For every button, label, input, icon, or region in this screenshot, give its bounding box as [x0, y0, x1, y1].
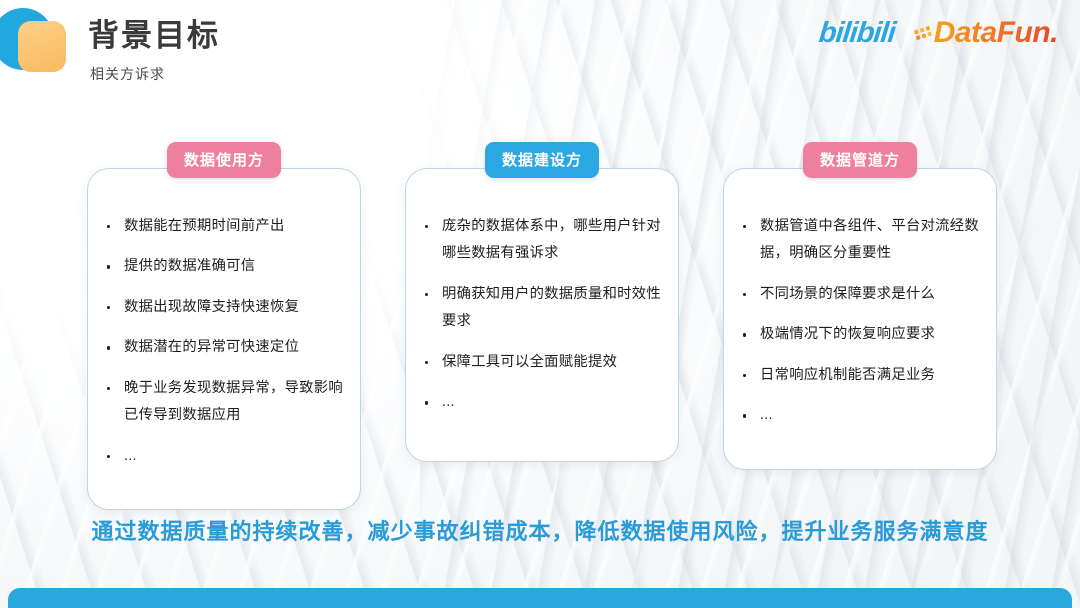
datafun-logo: DataFun.: [915, 16, 1058, 50]
card-data-pipeline: 数据管道方 数据管道中各组件、平台对流经数据，明确区分重要性 不同场景的保障要求…: [723, 168, 997, 510]
list-item: 庞杂的数据体系中，哪些用户针对哪些数据有强诉求: [416, 213, 662, 268]
title-block: 背景目标 相关方诉求: [88, 18, 220, 84]
list-item: ...: [98, 443, 344, 470]
datafun-logo-text: DataFun.: [934, 16, 1058, 50]
card-data-consumer: 数据使用方 数据能在预期时间前产出 提供的数据准确可信 数据出现故障支持快速恢复…: [87, 168, 361, 510]
bilibili-app-logo-icon: [0, 8, 66, 76]
list-item: 数据能在预期时间前产出: [98, 213, 344, 240]
list-item: ...: [734, 402, 980, 429]
card-body: 庞杂的数据体系中，哪些用户针对哪些数据有强诉求 明确获知用户的数据质量和时效性要…: [405, 168, 679, 462]
status-badge: 数据管道方: [803, 142, 917, 178]
card-body: 数据管道中各组件、平台对流经数据，明确区分重要性 不同场景的保障要求是什么 极端…: [723, 168, 997, 470]
brand-row: bilibili DataFun.: [819, 16, 1058, 50]
tagline: 通过数据质量的持续改善，减少事故纠错成本，降低数据使用风险，提升业务服务满意度: [0, 514, 1080, 546]
slide: 背景目标 相关方诉求 bilibili DataFun. 数据使用方 数据能在预…: [0, 0, 1080, 608]
card-data-builder: 数据建设方 庞杂的数据体系中，哪些用户针对哪些数据有强诉求 明确获知用户的数据质…: [405, 168, 679, 510]
list-item: 数据潜在的异常可快速定位: [98, 334, 344, 361]
list-item: 数据出现故障支持快速恢复: [98, 294, 344, 321]
list-item: ...: [416, 389, 662, 416]
list-item: 晚于业务发现数据异常，导致影响已传导到数据应用: [98, 375, 344, 430]
bilibili-logo: bilibili: [817, 17, 896, 50]
list-item: 日常响应机制能否满足业务: [734, 362, 980, 389]
logo-square-shape: [18, 21, 66, 72]
list-item: 数据管道中各组件、平台对流经数据，明确区分重要性: [734, 213, 980, 268]
page-subtitle: 相关方诉求: [90, 64, 220, 84]
list-item: 不同场景的保障要求是什么: [734, 281, 980, 308]
bullet-list: 数据管道中各组件、平台对流经数据，明确区分重要性 不同场景的保障要求是什么 极端…: [734, 213, 980, 430]
bottom-accent-bar: [8, 588, 1072, 608]
page-title: 背景目标: [88, 18, 220, 54]
stakeholder-cards: 数据使用方 数据能在预期时间前产出 提供的数据准确可信 数据出现故障支持快速恢复…: [87, 168, 997, 510]
status-badge: 数据建设方: [485, 142, 599, 178]
datafun-dots-icon: [914, 26, 932, 40]
status-badge: 数据使用方: [167, 142, 281, 178]
card-body: 数据能在预期时间前产出 提供的数据准确可信 数据出现故障支持快速恢复 数据潜在的…: [87, 168, 361, 510]
bullet-list: 数据能在预期时间前产出 提供的数据准确可信 数据出现故障支持快速恢复 数据潜在的…: [98, 213, 344, 470]
bullet-list: 庞杂的数据体系中，哪些用户针对哪些数据有强诉求 明确获知用户的数据质量和时效性要…: [416, 213, 662, 417]
list-item: 极端情况下的恢复响应要求: [734, 321, 980, 348]
list-item: 提供的数据准确可信: [98, 253, 344, 280]
list-item: 明确获知用户的数据质量和时效性要求: [416, 281, 662, 336]
list-item: 保障工具可以全面赋能提效: [416, 349, 662, 376]
